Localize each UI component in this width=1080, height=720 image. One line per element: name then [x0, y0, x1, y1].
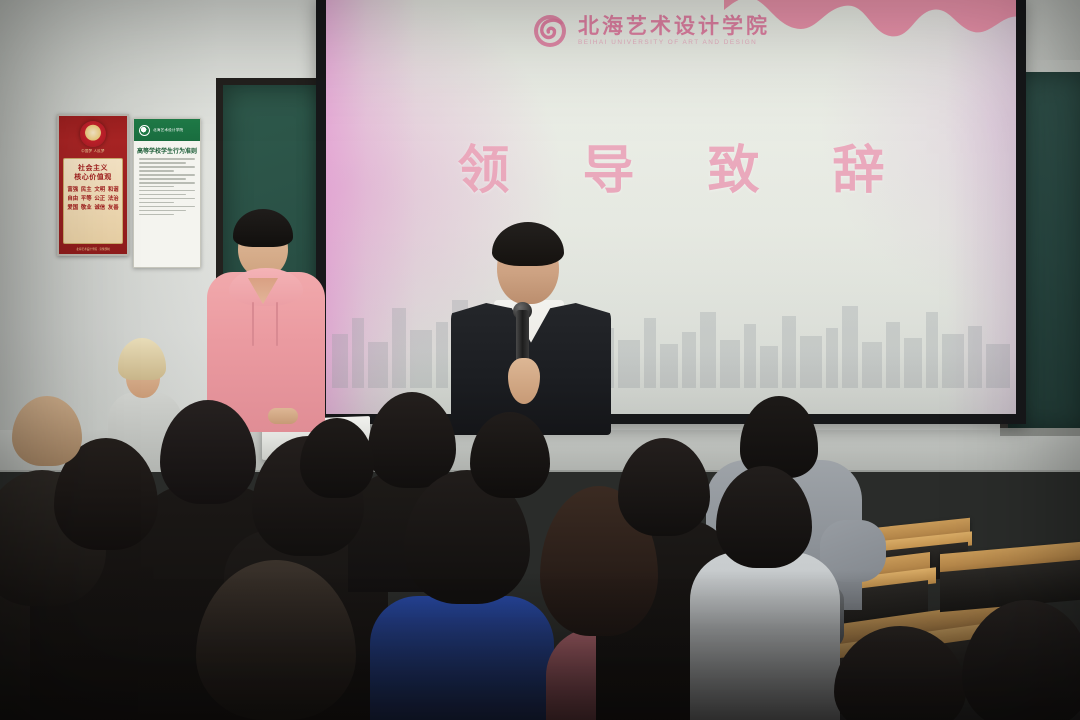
national-emblem-icon: [80, 121, 106, 147]
poster-title-line-1: 社会主义: [66, 164, 120, 173]
poster-footer: 北海艺术设计学院 · 宣传部制: [59, 247, 127, 251]
swirl-spiral-icon: [531, 12, 569, 50]
projection-screen: 北海艺术设计学院 BEIHAI UNIVERSITY OF ART AND DE…: [326, 0, 1016, 414]
hand-on-lectern: [268, 408, 298, 424]
hoodie-drawstring-right: [276, 302, 278, 346]
student-code-of-conduct-poster: 北海艺术设计学院 高等学校学生行为准则: [133, 118, 201, 268]
poster-header-text: 北海艺术设计学院: [153, 128, 183, 133]
audience-body-blue: [370, 596, 554, 720]
hoodie-drawstring-left: [252, 302, 254, 346]
slide-university-logo: 北海艺术设计学院 BEIHAI UNIVERSITY OF ART AND DE…: [531, 12, 770, 50]
poster-body-text: [134, 158, 200, 215]
core-value: 友善: [108, 204, 119, 213]
core-values-list: 富强 民主 文明 和谐 自由 平等 公正 法治 爱国 敬业 诚信 友善: [66, 186, 120, 213]
socialist-core-values-poster: 中国梦 人民梦 社会主义 核心价值观 富强 民主 文明 和谐 自由 平等 公正 …: [57, 114, 129, 256]
logo-chinese-name: 北海艺术设计学院: [578, 16, 770, 37]
core-value: 民主: [81, 186, 92, 195]
projector-glow-right: [946, 0, 1016, 414]
screen-light-veil: [326, 0, 1016, 414]
core-value: 诚信: [94, 204, 105, 213]
lecture-hall-photo: 中国梦 人民梦 社会主义 核心价值观 富强 民主 文明 和谐 自由 平等 公正 …: [0, 0, 1080, 720]
core-value: 和谐: [108, 186, 119, 195]
core-values-row-2: 自由 平等 公正 法治: [66, 195, 120, 204]
core-value: 富强: [67, 186, 78, 195]
poster-top-line: 中国梦 人民梦: [59, 149, 127, 154]
projector-glow-left: [326, 0, 416, 414]
city-skyline-silhouette: [326, 278, 1016, 388]
slide-title: 领 导 致 辞: [326, 128, 1016, 203]
core-value: 敬业: [81, 204, 92, 213]
core-value: 平等: [81, 195, 92, 204]
poster-inner-card: 社会主义 核心价值观 富强 民主 文明 和谐 自由 平等 公正 法治 爱国 敬业: [63, 158, 123, 244]
core-values-row-3: 爱国 敬业 诚信 友善: [66, 204, 120, 213]
core-value: 法治: [108, 195, 119, 204]
poster-title-line-2: 核心价值观: [66, 173, 120, 182]
core-values-row-1: 富强 民主 文明 和谐: [66, 186, 120, 195]
core-value: 公正: [94, 195, 105, 204]
poster-header-bar: 北海艺术设计学院: [134, 119, 200, 141]
core-value: 爱国: [67, 204, 78, 213]
core-value: 文明: [94, 186, 105, 195]
logo-english-name: BEIHAI UNIVERSITY OF ART AND DESIGN: [578, 40, 770, 46]
university-logo-icon: [139, 125, 150, 136]
poster-title: 高等学校学生行为准则: [134, 141, 200, 158]
audience-body-light: [690, 552, 840, 720]
chalk-tray: [1000, 428, 1080, 436]
core-value: 自由: [67, 195, 78, 204]
